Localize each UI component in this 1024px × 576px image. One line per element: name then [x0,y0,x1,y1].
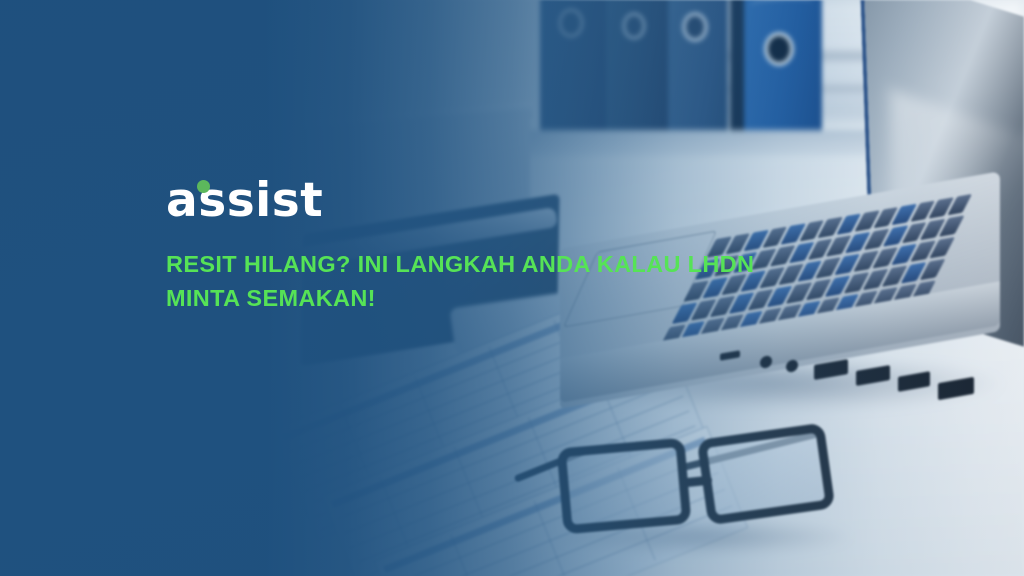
logo-wordmark: assist [166,173,323,228]
banner-headline: RESIT HILANG? INI LANGKAH ANDA KALAU LHD… [166,248,766,316]
assist-logo: assist [166,176,323,226]
banner-content: assist RESIT HILANG? INI LANGKAH ANDA KA… [166,176,806,316]
logo-green-dot-icon [197,180,210,193]
promo-banner: assist RESIT HILANG? INI LANGKAH ANDA KA… [0,0,1024,576]
